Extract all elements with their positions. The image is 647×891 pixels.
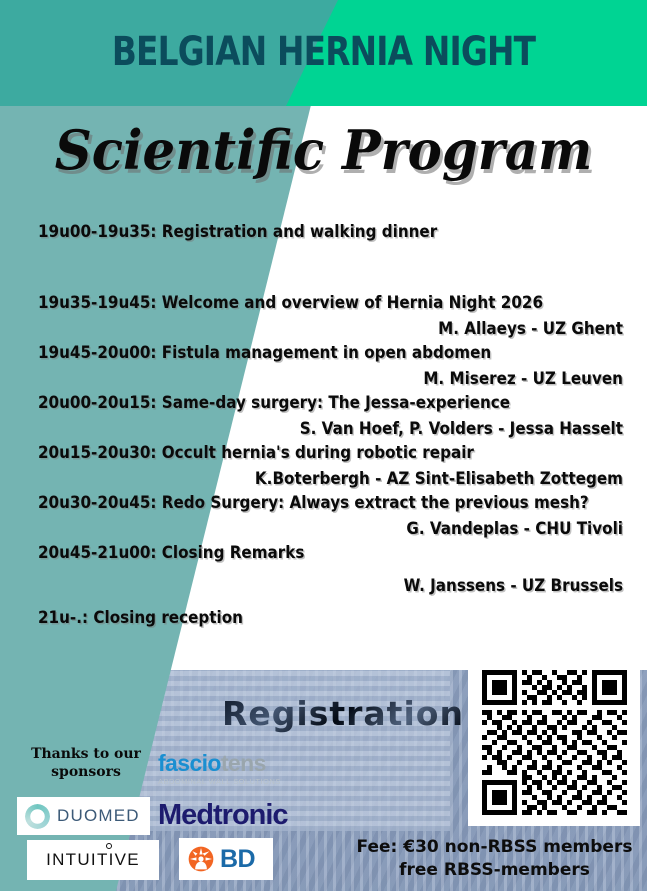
thanks-line-2: sponsors — [26, 764, 146, 782]
intuitive-label: INTUITIVE — [46, 850, 140, 870]
sponsors-thanks-label: Thanks to our sponsors — [26, 746, 146, 781]
schedule-row: 21u-.: Closing reception — [0, 608, 647, 627]
session-title: 19u00-19u35: Registration and walking di… — [38, 222, 598, 241]
session-title: 21u-.: Closing reception — [38, 608, 598, 627]
schedule-row: 19u35-19u45: Welcome and overview of Her… — [0, 293, 647, 338]
thanks-line-1: Thanks to our — [26, 746, 146, 764]
fasciotens-part1: fascio — [158, 750, 221, 776]
intuitive-text: INTUITIVE — [46, 850, 140, 869]
session-speaker: K.Boterbergh - AZ Sint-Elisabeth Zottege… — [50, 469, 623, 488]
schedule-row: 20u30-20u45: Redo Surgery: Always extrac… — [0, 493, 647, 538]
registration-qr-card[interactable] — [468, 659, 640, 826]
session-title: 20u30-20u45: Redo Surgery: Always extrac… — [38, 493, 598, 512]
session-title: 19u45-20u00: Fistula management in open … — [38, 343, 598, 362]
session-speaker: M. Allaeys - UZ Ghent — [50, 319, 623, 338]
session-speaker: M. Miserez - UZ Leuven — [50, 369, 623, 388]
duomed-ring-icon — [25, 804, 50, 829]
session-title: 20u00-20u15: Same-day surgery: The Jessa… — [38, 393, 598, 412]
schedule-row: 20u45-21u00: Closing Remarks W. Janssens… — [0, 543, 647, 595]
schedule-row: 20u00-20u15: Same-day surgery: The Jessa… — [0, 393, 647, 438]
schedule-list: 19u00-19u35: Registration and walking di… — [0, 222, 647, 627]
fee-line-1: Fee: €30 non-RBSS members — [352, 836, 637, 859]
registration-qr-code[interactable] — [482, 670, 627, 815]
fasciotens-wordmark: fasciotens — [158, 752, 286, 775]
session-speaker: S. Van Hoef, P. Volders - Jessa Hasselt — [50, 419, 623, 438]
fasciotens-tagline: ABDOMINAL WALL SOLUTIONS — [158, 777, 286, 786]
sponsor-logo-fasciotens: fasciotens ABDOMINAL WALL SOLUTIONS — [158, 752, 286, 788]
bd-starburst-icon — [188, 846, 214, 872]
fasciotens-part2: tens — [221, 750, 266, 776]
page-title: BELGIAN HERNIA NIGHT — [58, 29, 589, 75]
schedule-row: 19u45-20u00: Fistula management in open … — [0, 343, 647, 388]
session-speaker: G. Vandeplas - CHU Tivoli — [50, 519, 623, 538]
fee-line-2: free RBSS-members — [352, 859, 637, 882]
schedule-row: 20u15-20u30: Occult hernia's during robo… — [0, 443, 647, 488]
sponsor-logo-medtronic: Medtronic — [158, 799, 288, 832]
sponsor-logo-intuitive: INTUITIVE — [27, 840, 159, 880]
intuitive-dot-icon — [106, 843, 112, 849]
duomed-label: DUOMED — [57, 806, 140, 826]
session-title: 19u35-19u45: Welcome and overview of Her… — [38, 293, 598, 312]
fee-info: Fee: €30 non-RBSS members free RBSS-memb… — [352, 836, 637, 882]
page-subtitle: Scientific Program — [16, 118, 631, 182]
bd-label: BD — [220, 845, 255, 874]
schedule-row: 19u00-19u35: Registration and walking di… — [0, 222, 647, 241]
sponsor-logo-duomed: DUOMED — [17, 797, 150, 835]
registration-heading: Registration — [222, 694, 464, 733]
session-title: 20u45-21u00: Closing Remarks — [38, 543, 598, 562]
session-title: 20u15-20u30: Occult hernia's during robo… — [38, 443, 598, 462]
sponsor-logo-bd: BD — [179, 838, 273, 880]
poster-canvas: BELGIAN HERNIA NIGHT Scientific Program … — [0, 0, 647, 891]
session-speaker: W. Janssens - UZ Brussels — [50, 576, 623, 595]
